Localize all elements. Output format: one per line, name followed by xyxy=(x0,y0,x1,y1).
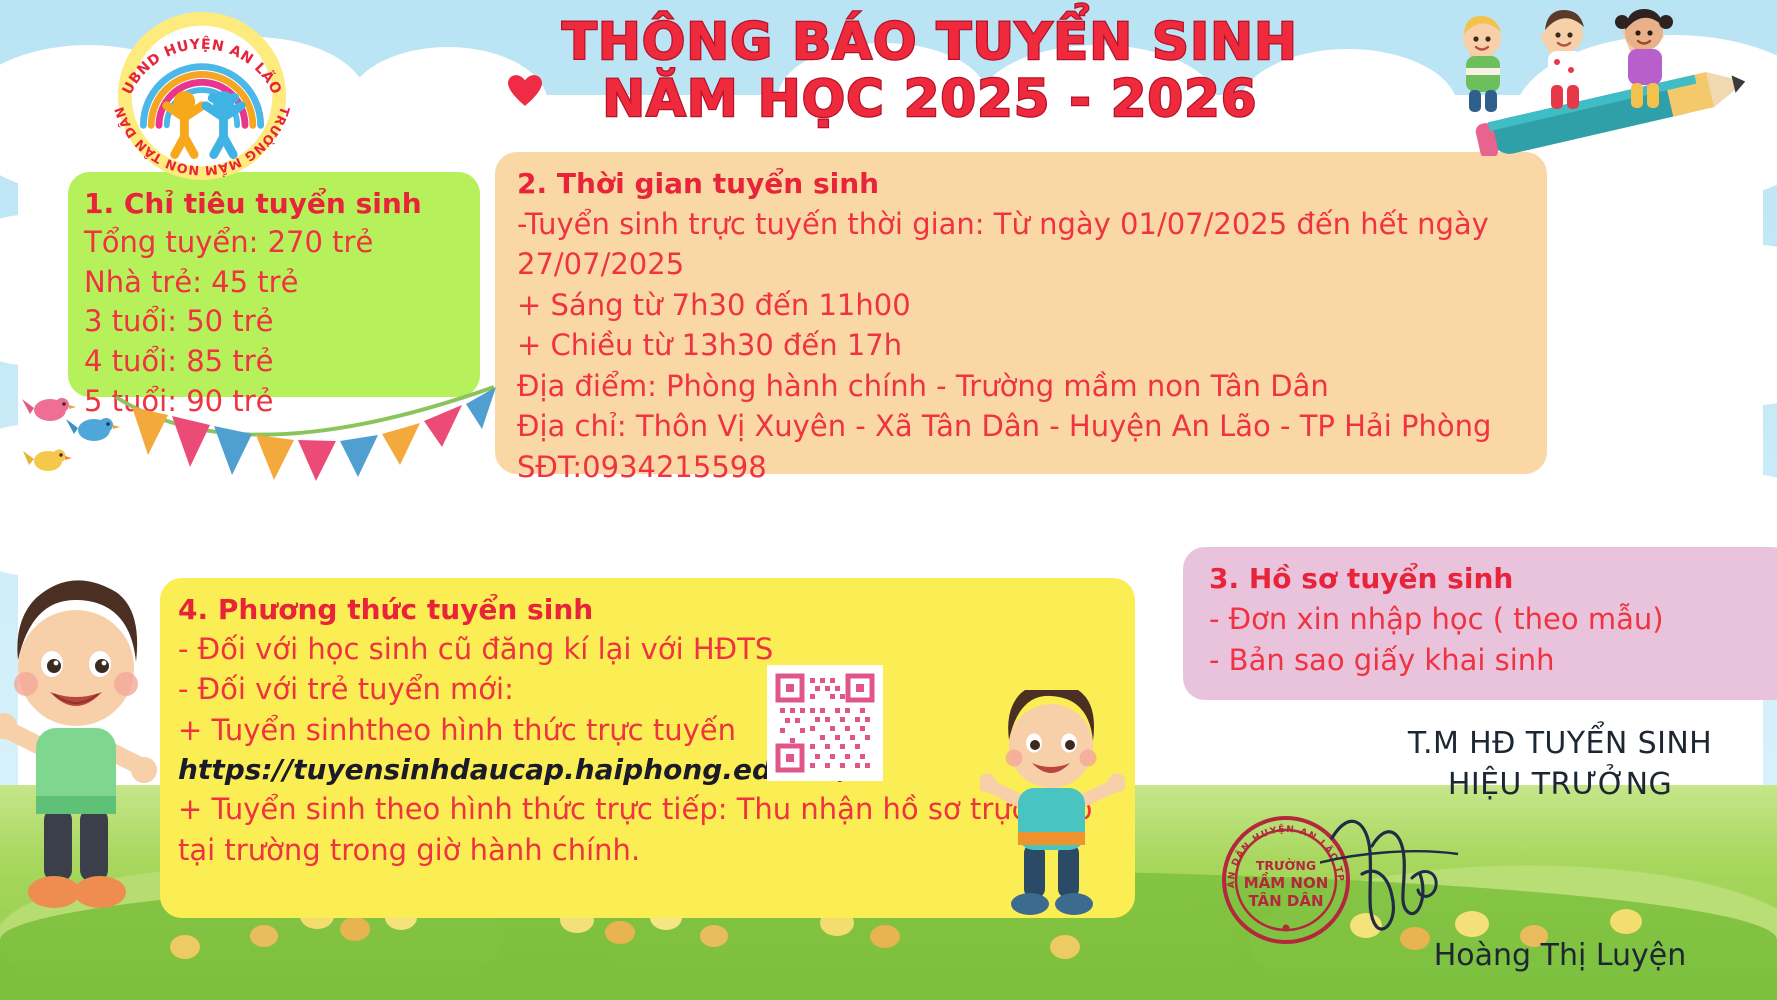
qr-code-icon[interactable] xyxy=(767,665,883,781)
section4-title: 4. Phương thức tuyển sinh xyxy=(178,592,1135,627)
section4-line-0: - Đối với học sinh cũ đăng kí lại với HĐ… xyxy=(178,629,1135,669)
section-admission-target: 1. Chỉ tiêu tuyển sinh Tổng tuyển: 270 t… xyxy=(68,172,480,397)
section2-title: 2. Thời gian tuyển sinh xyxy=(517,166,1547,201)
section2-line-0: -Tuyển sinh trực tuyến thời gian: Từ ngà… xyxy=(517,204,1547,244)
section2-line-2: + Sáng từ 7h30 đến 11h00 xyxy=(517,285,1547,325)
section2-line-6: SĐT:0934215598 xyxy=(517,447,1547,487)
boy-waving-illustration xyxy=(0,580,192,920)
kids-on-pencil-illustration xyxy=(1430,6,1760,156)
handwritten-signature-icon xyxy=(1320,800,1480,950)
section1-title: 1. Chỉ tiêu tuyển sinh xyxy=(84,186,480,221)
stamp-line-3: TÂN DÂN xyxy=(1248,891,1323,910)
section2-line-4: Địa điểm: Phòng hành chính - Trường mầm … xyxy=(517,366,1547,406)
signature-line-2: HIỆU TRƯỞNG xyxy=(1380,767,1740,802)
section-admission-time: 2. Thời gian tuyển sinh -Tuyển sinh trực… xyxy=(495,152,1547,474)
section2-line-1: 27/07/2025 xyxy=(517,244,1547,284)
section1-line-1: Nhà trẻ: 45 trẻ xyxy=(84,263,480,303)
title-line-1: THÔNG BÁO TUYỂN SINH xyxy=(560,14,1300,71)
school-logo: UBND HUYỆN AN LÃO TRƯỜNG MẦM NON TÂN DÂN xyxy=(104,8,300,180)
section2-line-5: Địa chỉ: Thôn Vị Xuyên - Xã Tân Dân - Hu… xyxy=(517,406,1547,446)
title-line-2: NĂM HỌC 2025 - 2026 xyxy=(560,71,1300,128)
section3-title: 3. Hồ sơ tuyển sinh xyxy=(1209,561,1777,596)
section3-line-1: - Bản sao giấy khai sinh xyxy=(1209,640,1777,681)
section2-line-3: + Chiều từ 13h30 đến 17h xyxy=(517,325,1547,365)
page-title: THÔNG BÁO TUYỂN SINH NĂM HỌC 2025 - 2026 xyxy=(560,14,1300,128)
stamp-line-2: MẦM NON xyxy=(1244,871,1329,892)
section1-line-3: 4 tuổi: 85 trẻ xyxy=(84,342,480,382)
signature-name: Hoàng Thị Luyện xyxy=(1370,938,1750,973)
section1-line-0: Tổng tuyển: 270 trẻ xyxy=(84,223,480,263)
heart-icon xyxy=(508,75,542,107)
signature-line-1: T.M HĐ TUYỂN SINH xyxy=(1380,726,1740,761)
poster-canvas: UBND HUYỆN AN LÃO TRƯỜNG MẦM NON TÂN DÂN… xyxy=(0,0,1777,1000)
bunting-flags-icon xyxy=(110,385,500,505)
section3-line-0: - Đơn xin nhập học ( theo mẫu) xyxy=(1209,599,1777,640)
stamp-line-1: TRƯỜNG xyxy=(1256,858,1316,873)
section1-line-2: 3 tuổi: 50 trẻ xyxy=(84,302,480,342)
boy-jumping-illustration xyxy=(980,690,1125,920)
section-admission-file: 3. Hồ sơ tuyển sinh - Đơn xin nhập học (… xyxy=(1183,547,1777,700)
